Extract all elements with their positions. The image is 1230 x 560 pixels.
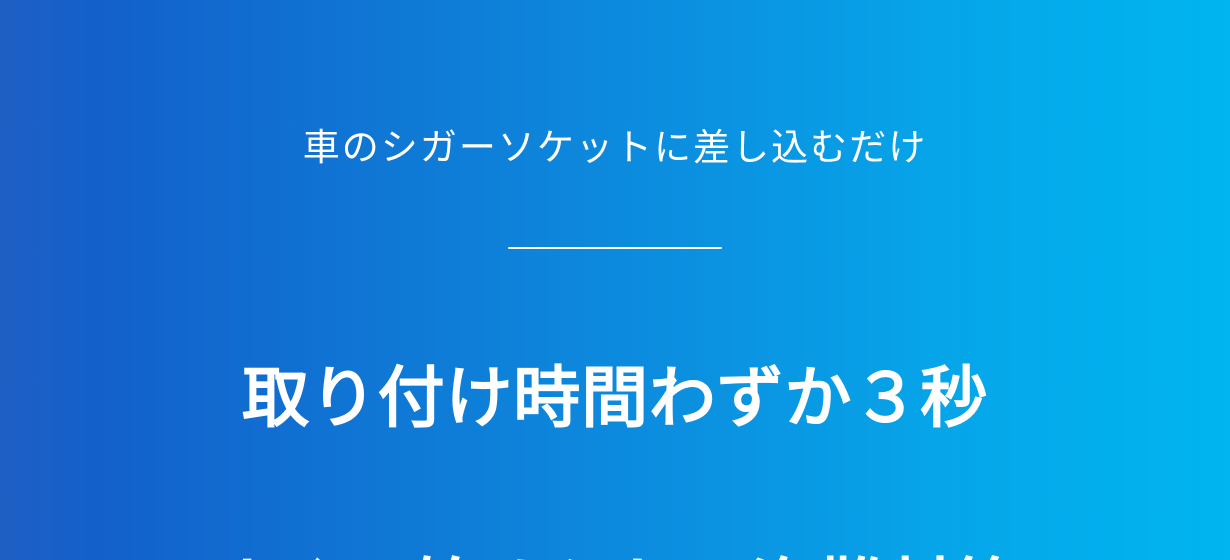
divider-container — [0, 239, 1230, 257]
divider-rule — [508, 247, 722, 249]
eyebrow-text: 車のシガーソケットに差し込むだけ — [303, 129, 928, 166]
headline-line-1: 取り付け時間わずか３秒 — [242, 348, 988, 450]
promo-banner: 車のシガーソケットに差し込むだけ 取り付け時間わずか３秒 すぐに始められる盗難対… — [0, 0, 1230, 560]
headline-container: 取り付け時間わずか３秒 すぐに始められる盗難対策 — [0, 303, 1230, 560]
eyebrow-container: 車のシガーソケットに差し込むだけ — [0, 92, 1230, 203]
headline-line-2: すぐに始められる盗難対策 — [208, 540, 1022, 560]
